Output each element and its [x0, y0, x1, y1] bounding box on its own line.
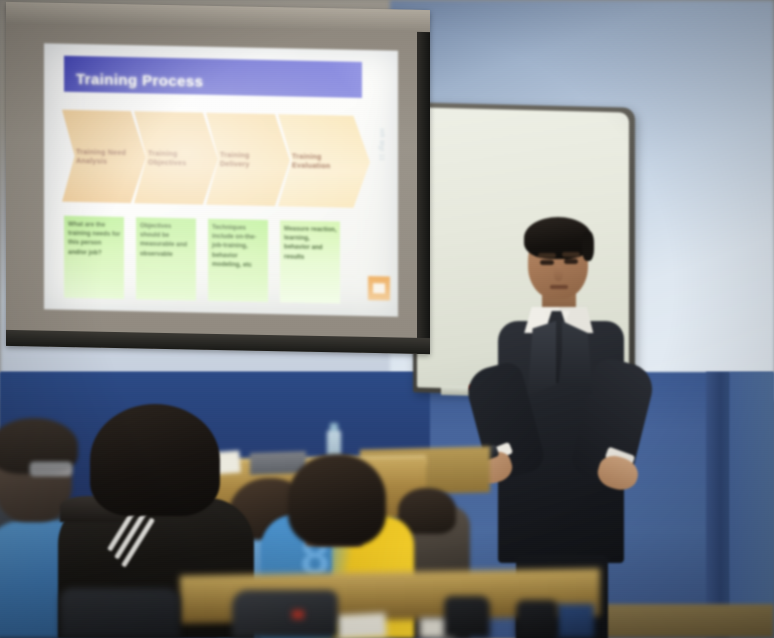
slide-title-bar: Training Process: [64, 56, 362, 98]
process-note-2: Objectives should be measurable and obse…: [136, 217, 196, 300]
presenter-eye-left: [540, 260, 554, 265]
process-note-3-text: Techniques include on-the-job-training, …: [208, 219, 268, 270]
wall-edge-column: [706, 372, 730, 638]
process-note-2-text: Objectives should be measurable and obse…: [136, 217, 196, 259]
process-note-1-text: What are the training needs for this per…: [64, 216, 124, 258]
presenter-nose: [554, 265, 563, 281]
process-note-4: Measure reaction, learning, behavior and…: [280, 220, 340, 303]
wall-far-panel: [730, 372, 774, 638]
process-step-4: Training Evaluation: [278, 114, 370, 208]
slide-side-text: HR Mgt 11: [378, 128, 384, 161]
backpack-logo-icon: [292, 610, 304, 619]
presenter-hair: [524, 217, 592, 259]
process-step-3: Training Delivery: [206, 113, 290, 207]
process-chevron-row: Training Need Analysis Training Objectiv…: [62, 110, 380, 209]
process-note-row: What are the training needs for this per…: [62, 216, 380, 305]
process-note-4-text: Measure reaction, learning, behavior and…: [280, 220, 340, 262]
student-2-hair: [90, 404, 220, 516]
slide-title: Training Process: [64, 71, 203, 95]
student-1-glasses: [30, 462, 72, 476]
chair-back-2: [516, 600, 558, 638]
front-papers: [335, 613, 386, 638]
student-4-hair: [288, 454, 386, 546]
process-step-2: Training Objectives: [134, 111, 218, 205]
presenter-brow-right: [562, 252, 580, 257]
presenter-mouth: [550, 285, 568, 289]
process-note-3: Techniques include on-the-job-training, …: [208, 219, 268, 302]
process-step-1-label: Training Need Analysis: [62, 146, 136, 167]
presenter-eye-right: [564, 259, 578, 264]
backpack-left: [60, 588, 180, 638]
front-blue-object: [556, 604, 594, 638]
chair-back-1: [444, 596, 490, 638]
backpack-center: [232, 590, 338, 638]
process-step-1: Training Need Analysis: [62, 110, 146, 204]
classroom-photo: Training Process Training Need Analysis …: [0, 0, 774, 638]
presenter-brow-left: [538, 253, 556, 258]
process-note-1: What are the training needs for this per…: [64, 216, 124, 299]
presentation-slide: Training Process Training Need Analysis …: [44, 43, 398, 316]
slide-logo-icon: [368, 276, 390, 300]
